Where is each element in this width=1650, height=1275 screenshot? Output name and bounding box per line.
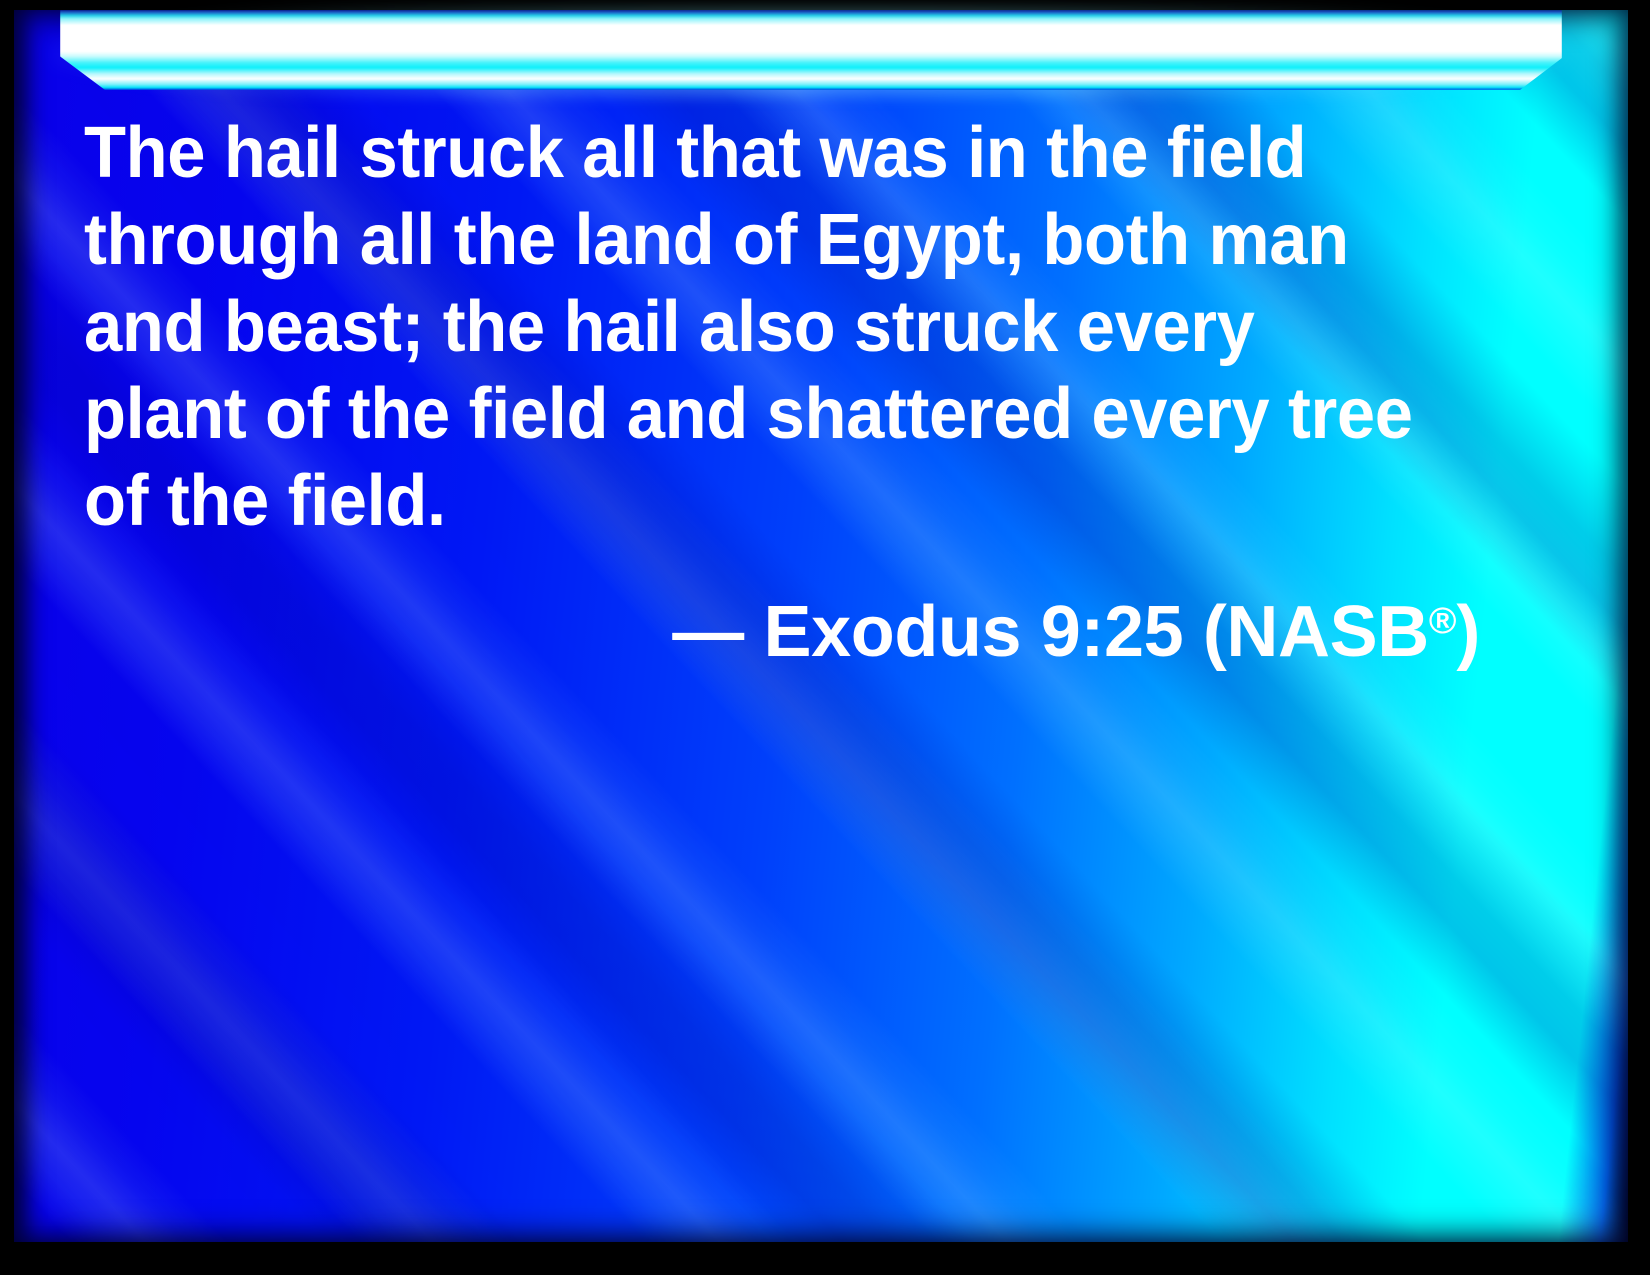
verse-text: The hail struck all that was in the fiel… xyxy=(84,110,1432,545)
registered-trademark-icon: ® xyxy=(1429,599,1457,641)
verse-reference-suffix: ) xyxy=(1456,592,1480,672)
decorative-top-band xyxy=(60,10,1562,90)
verse-reference-prefix: — Exodus 9:25 (NASB xyxy=(672,592,1429,672)
verse-reference: — Exodus 9:25 (NASB®) xyxy=(84,545,1496,676)
verse-block: The hail struck all that was in the fiel… xyxy=(84,110,1496,676)
verse-slide: The hail struck all that was in the fiel… xyxy=(0,0,1650,1275)
